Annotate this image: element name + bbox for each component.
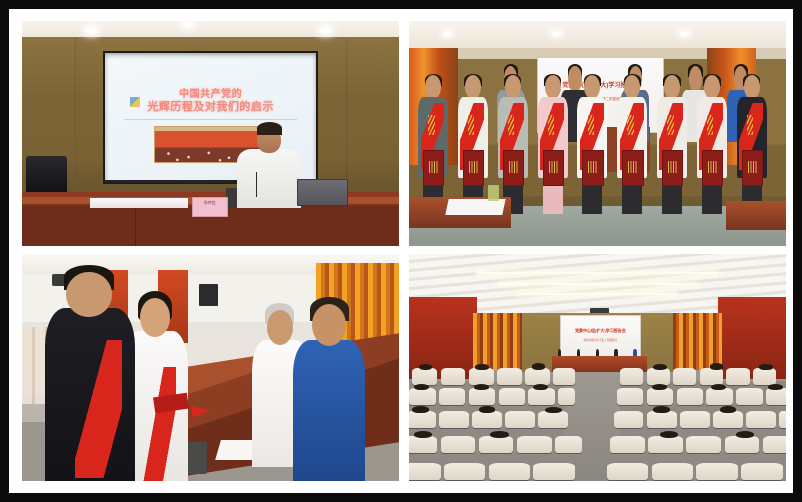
- warm-wall-panel-right: [673, 313, 722, 370]
- light-strip: [499, 283, 695, 285]
- laptop-icon: [297, 179, 348, 206]
- leader-person: [293, 340, 365, 481]
- ceiling-lights: [22, 21, 399, 37]
- photo-bottom-right[interactable]: 党委中心组(扩大)学习报告会 湖南中医药大学第二附属医院: [409, 254, 786, 481]
- slide-title-line2: 光辉历程及对我们的启示: [105, 101, 316, 114]
- photo-bottom-left[interactable]: Award ceremony handshake: leaders presen…: [22, 254, 399, 481]
- audience-left: [409, 368, 575, 482]
- side-table-right: [726, 201, 786, 230]
- ceiling-spot-icon: [680, 32, 689, 36]
- photo-grid: 中国共产党的 光辉历程及对我们的启示 徐仲信 Speaker seated at…: [22, 21, 780, 481]
- microphone-icon: [256, 172, 257, 197]
- speaker-box-icon: [199, 284, 218, 307]
- light-strip: [477, 272, 718, 274]
- collage-frame: 中国共产党的 光辉历程及对我们的启示 徐仲信 Speaker seated at…: [0, 0, 802, 502]
- ceiling-spot-icon: [443, 32, 452, 36]
- recipient-person: [695, 75, 728, 215]
- name-placard-text: 徐仲信: [193, 198, 227, 207]
- slide-divider: [124, 119, 297, 120]
- photo-top-right[interactable]: 党委中心组(扩大)学习报告会 湖南中医药大学第二附属医院: [409, 21, 786, 246]
- recipient-person: [576, 75, 609, 215]
- wall-seam: [346, 37, 347, 179]
- recipient-person: [417, 75, 450, 215]
- thermos-cup: [188, 442, 207, 474]
- recipient-person: [496, 75, 529, 215]
- front-row-recipients: [417, 75, 779, 215]
- speaker-person: [237, 149, 301, 208]
- office-chair: [26, 156, 67, 192]
- recipient-person: [45, 308, 135, 481]
- ceiling-spot-icon: [552, 32, 561, 36]
- screen-title: 党委中心组(扩大)学习报告会: [561, 328, 640, 334]
- photo-top-left[interactable]: 中国共产党的 光辉历程及对我们的启示 徐仲信 Speaker seated at…: [22, 21, 399, 246]
- wall-seam: [75, 37, 76, 179]
- ceiling-lights: [409, 21, 786, 48]
- slide-title: 中国共产党的 光辉历程及对我们的启示: [105, 88, 316, 114]
- name-placard: 徐仲信: [192, 197, 228, 217]
- tea-glass: [488, 185, 499, 201]
- warm-wall-panel-left: [473, 313, 522, 370]
- audience-right: [620, 368, 786, 482]
- recipient-person: [536, 75, 569, 215]
- light-strip: [518, 293, 676, 295]
- slide-title-line1: 中国共产党的: [105, 88, 316, 101]
- screen-subtitle: 湖南中医药大学第二附属医院: [561, 338, 640, 342]
- recipient-person: [616, 75, 649, 215]
- recipient-person: [655, 75, 688, 215]
- table-papers: [445, 199, 505, 215]
- desk-papers: [90, 198, 188, 208]
- ceiling-spot-icon: [184, 22, 192, 27]
- recipient-person: [735, 75, 768, 215]
- recipient-person: [456, 75, 489, 215]
